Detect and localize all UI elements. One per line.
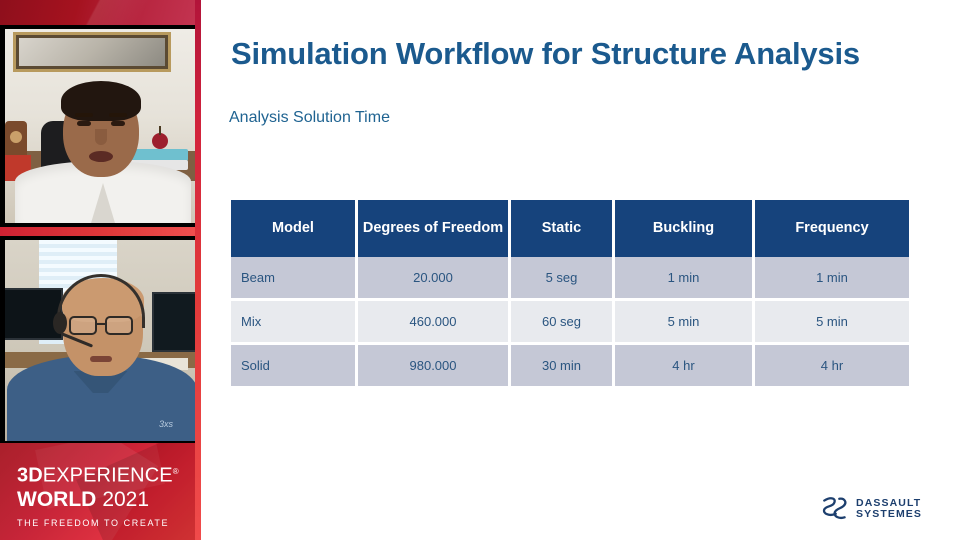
column-header-buckling[interactable]: Buckling (615, 200, 755, 257)
webcam-presenter-1[interactable] (3, 27, 198, 225)
slide-content: Simulation Workflow for Structure Analys… (201, 0, 960, 540)
table-header-row: Model Degrees of Freedom Static Buckling… (231, 200, 909, 257)
event-logo-text: 3DEXPERIENCE® WORLD2021 THE FREEDOM TO C… (17, 461, 195, 529)
cell-static: 60 seg (511, 301, 615, 345)
table-row: Solid 980.000 30 min 4 hr 4 hr (231, 345, 909, 386)
monitor-right (152, 292, 198, 352)
slide-subtitle: Analysis Solution Time (229, 109, 390, 127)
glasses-bridge (97, 323, 105, 325)
event-logo-line-2: WORLD2021 (17, 488, 195, 512)
registered-mark-icon: ® (173, 467, 179, 476)
presenter-1-eye-left (77, 121, 91, 126)
table-body: Beam 20.000 5 seg 1 min 1 min Mix 460.00… (231, 257, 909, 386)
column-header-model[interactable]: Model (231, 200, 358, 257)
presenter-1-eye-right (111, 121, 125, 126)
brand-line-1: DASSAULT (856, 498, 922, 509)
cell-buckling: 5 min (615, 301, 755, 345)
cell-dof: 980.000 (358, 345, 511, 386)
cell-frequency: 5 min (755, 301, 909, 345)
cell-model: Mix (231, 301, 358, 345)
cell-frequency: 4 hr (755, 345, 909, 386)
red-top-banner (0, 0, 201, 25)
headset-earcup-icon (53, 312, 67, 334)
cell-static: 5 seg (511, 257, 615, 301)
event-logo-line-1: 3DEXPERIENCE® (17, 461, 195, 487)
cell-model: Solid (231, 345, 358, 386)
wall-picture-frame (13, 32, 171, 72)
event-logo-3d: 3D (17, 465, 43, 487)
presenter-1-mouth (89, 151, 113, 162)
monitor-left (3, 288, 63, 340)
event-logo-tagline: THE FREEDOM TO CREATE (17, 517, 195, 529)
event-logo-world: WORLD (17, 488, 96, 511)
webcam-column: 3xs 3DEXPERIENCE® WORLD2021 THE FREEDOM … (0, 0, 201, 540)
cell-frequency: 1 min (755, 257, 909, 301)
desk-apple (152, 133, 168, 149)
analysis-solution-time-table: Model Degrees of Freedom Static Buckling… (231, 200, 909, 386)
presentation-slide: 3xs 3DEXPERIENCE® WORLD2021 THE FREEDOM … (0, 0, 960, 540)
shirt-collar (91, 183, 115, 223)
cell-dof: 20.000 (358, 257, 511, 301)
cell-model: Beam (231, 257, 358, 301)
webcam-presenter-2[interactable]: 3xs (3, 238, 198, 443)
presenter-1-hair (61, 81, 141, 121)
dassault-systemes-logo: DASSAULT SYSTEMES (819, 495, 922, 522)
column-header-frequency[interactable]: Frequency (755, 200, 909, 257)
table-row: Mix 460.000 60 seg 5 min 5 min (231, 301, 909, 345)
brand-line-2: SYSTEMES (856, 509, 922, 520)
presenter-2-mouth (90, 356, 112, 362)
picture-frame-inner (19, 38, 165, 66)
page-title: Simulation Workflow for Structure Analys… (231, 36, 931, 72)
3ds-compass-icon (819, 495, 849, 522)
glasses-lens-left (69, 316, 97, 335)
column-header-static[interactable]: Static (511, 200, 615, 257)
glasses-lens-right (105, 316, 133, 335)
event-logo-year: 2021 (102, 488, 149, 511)
event-logo-experience: EXPERIENCE (43, 465, 173, 487)
cell-dof: 460.000 (358, 301, 511, 345)
presenter-1-eyebrow-left (75, 113, 93, 117)
presenter-1-nose (95, 129, 107, 145)
webcam-divider (0, 227, 201, 236)
table-header: Model Degrees of Freedom Static Buckling… (231, 200, 909, 257)
shirt-3ds-logo-icon: 3xs (159, 419, 173, 429)
dassault-systemes-wordmark: DASSAULT SYSTEMES (856, 498, 922, 519)
cell-buckling: 4 hr (615, 345, 755, 386)
presenter-1-eyebrow-right (109, 113, 127, 117)
cell-static: 30 min (511, 345, 615, 386)
event-logo-panel: 3DEXPERIENCE® WORLD2021 THE FREEDOM TO C… (0, 443, 201, 540)
column-header-dof[interactable]: Degrees of Freedom (358, 200, 511, 257)
cell-buckling: 1 min (615, 257, 755, 301)
table-row: Beam 20.000 5 seg 1 min 1 min (231, 257, 909, 301)
